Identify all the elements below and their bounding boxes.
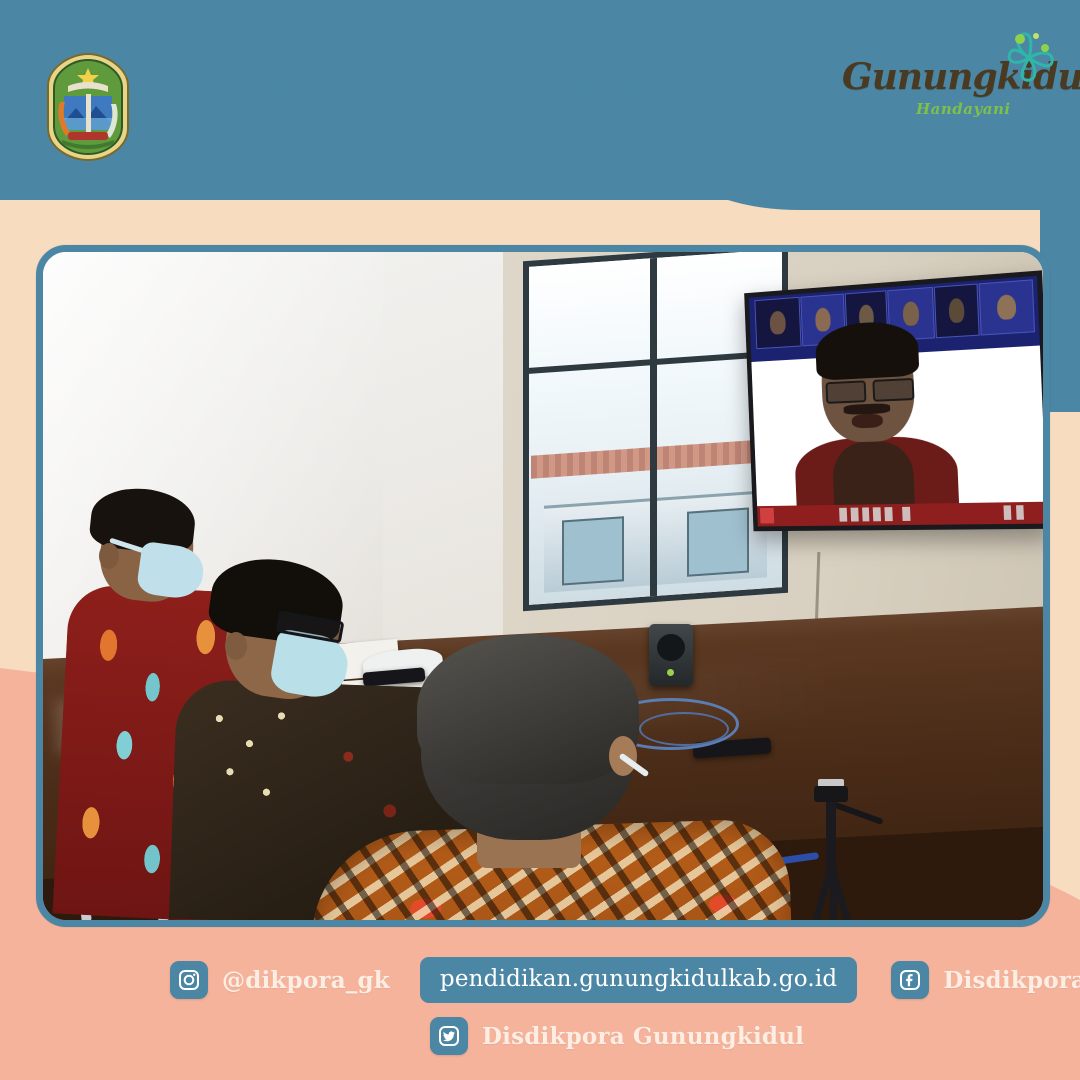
org-title-line1: Dinas Pendidikan, Pemuda, dan Olahraga	[136, 72, 681, 103]
participant-tile	[979, 279, 1036, 336]
facebook-page-name[interactable]: Disdikpora Gunungkidul	[943, 967, 1080, 994]
window-mullion-vertical	[650, 258, 657, 596]
presenter-glasses-icon	[825, 378, 914, 400]
window-view-pane	[562, 517, 624, 586]
gunungkidul-flower-icon	[998, 26, 1060, 88]
gunungkidul-regency-crest-icon	[44, 52, 132, 162]
presenter-hair	[815, 319, 919, 380]
org-title-line2: Kabupaten Gunungkidul	[136, 106, 756, 142]
attendee-ear	[225, 632, 247, 660]
meeting-photo	[43, 252, 1043, 920]
page-title: Dinas Pendidikan, Pemuda, dan Olahraga K…	[136, 70, 756, 142]
presenter-with-glasses-and-moustache	[783, 321, 968, 526]
footer-row-primary: @dikpora_gk pendidikan.gunungkidulkab.go…	[170, 957, 1080, 1003]
wall-mounted-television-icon	[744, 270, 1043, 531]
attendee-hair	[417, 634, 639, 784]
camera-tripod	[778, 786, 888, 920]
facebook-group[interactable]: Disdikpora Gunungkidul	[891, 961, 1080, 999]
facebook-icon[interactable]	[891, 961, 929, 999]
twitter-icon[interactable]	[430, 1017, 468, 1055]
attendee-foreground	[355, 644, 775, 920]
brand-tagline: Handayani	[916, 100, 1011, 118]
website-url-badge[interactable]: pendidikan.gunungkidulkab.go.id	[420, 957, 857, 1003]
window-view-pane	[687, 508, 749, 577]
twitter-account-name[interactable]: Disdikpora Gunungkidul	[482, 1023, 804, 1050]
instagram-handle[interactable]: @dikpora_gk	[222, 967, 390, 994]
social-media-poster: Dinas Pendidikan, Pemuda, dan Olahraga K…	[0, 0, 1080, 1080]
poster-footer: @dikpora_gk pendidikan.gunungkidulkab.go…	[0, 935, 1080, 1080]
video-conference-screen	[749, 276, 1043, 526]
instagram-icon[interactable]	[170, 961, 208, 999]
attendee-ear	[99, 543, 119, 569]
screen-taskbar	[757, 501, 1043, 526]
meeting-photo-frame	[36, 245, 1050, 927]
poster-header: Dinas Pendidikan, Pemuda, dan Olahraga K…	[0, 0, 1080, 200]
gunungkidul-brand-logo: Gunungkidul Handayani	[842, 26, 1062, 136]
footer-row-secondary: Disdikpora Gunungkidul	[430, 1017, 804, 1055]
